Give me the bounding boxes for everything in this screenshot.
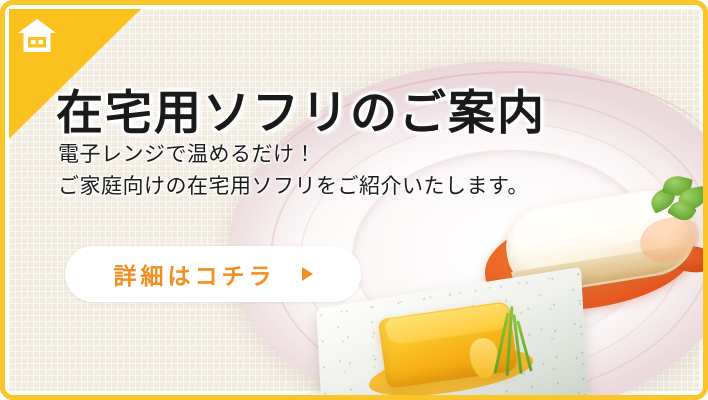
lead-copy: 電子レンジで温めるだけ！ ご家庭向けの在宅用ソフリをご紹介いたします。 — [58, 139, 529, 203]
arrow-right-icon — [302, 267, 313, 281]
lead-line-2: ご家庭向けの在宅用ソフリをご紹介いたします。 — [58, 171, 529, 203]
details-cta-label: 詳細はコチラ — [114, 257, 276, 291]
details-cta-button[interactable]: 詳細はコチラ — [65, 246, 361, 302]
promo-banner: 在宅用ソフリのご案内 電子レンジで温めるだけ！ ご家庭向けの在宅用ソフリをご紹介… — [0, 0, 708, 400]
page-title: 在宅用ソフリのご案内 — [56, 87, 546, 139]
house-icon — [17, 18, 57, 54]
lead-line-1: 電子レンジで温めるだけ！ — [58, 139, 529, 171]
